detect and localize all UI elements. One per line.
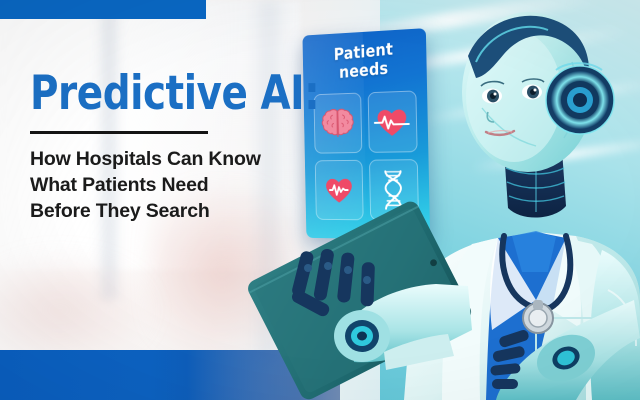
title-divider [30, 131, 208, 134]
top-accent-bar [0, 0, 206, 19]
brain-icon [320, 107, 355, 139]
heart-pulse-icon [373, 105, 412, 140]
icon-cell-heart-ecg [315, 160, 363, 220]
patient-needs-card: Patient needs [302, 28, 430, 240]
subtitle-line-1: How Hospitals Can Know [30, 146, 280, 172]
heart-ecg-icon [322, 174, 356, 205]
icon-cell-dna [369, 159, 419, 221]
icon-cell-brain [313, 93, 361, 154]
headline-block: Predictive AI: How Hospitals Can Know Wh… [30, 70, 280, 224]
page-subtitle: How Hospitals Can Know What Patients Nee… [30, 146, 280, 224]
card-icon-grid [313, 90, 419, 220]
bottom-accent-bar-shade [150, 350, 340, 400]
subtitle-line-3: Before They Search [30, 198, 280, 224]
card-body: Patient needs [302, 28, 430, 240]
subtitle-line-2: What Patients Need [30, 172, 280, 198]
poster-canvas: Predictive AI: How Hospitals Can Know Wh… [0, 0, 640, 400]
dna-icon [378, 169, 409, 211]
page-title: Predictive AI: [30, 70, 260, 118]
icon-cell-heart-pulse [367, 90, 417, 152]
